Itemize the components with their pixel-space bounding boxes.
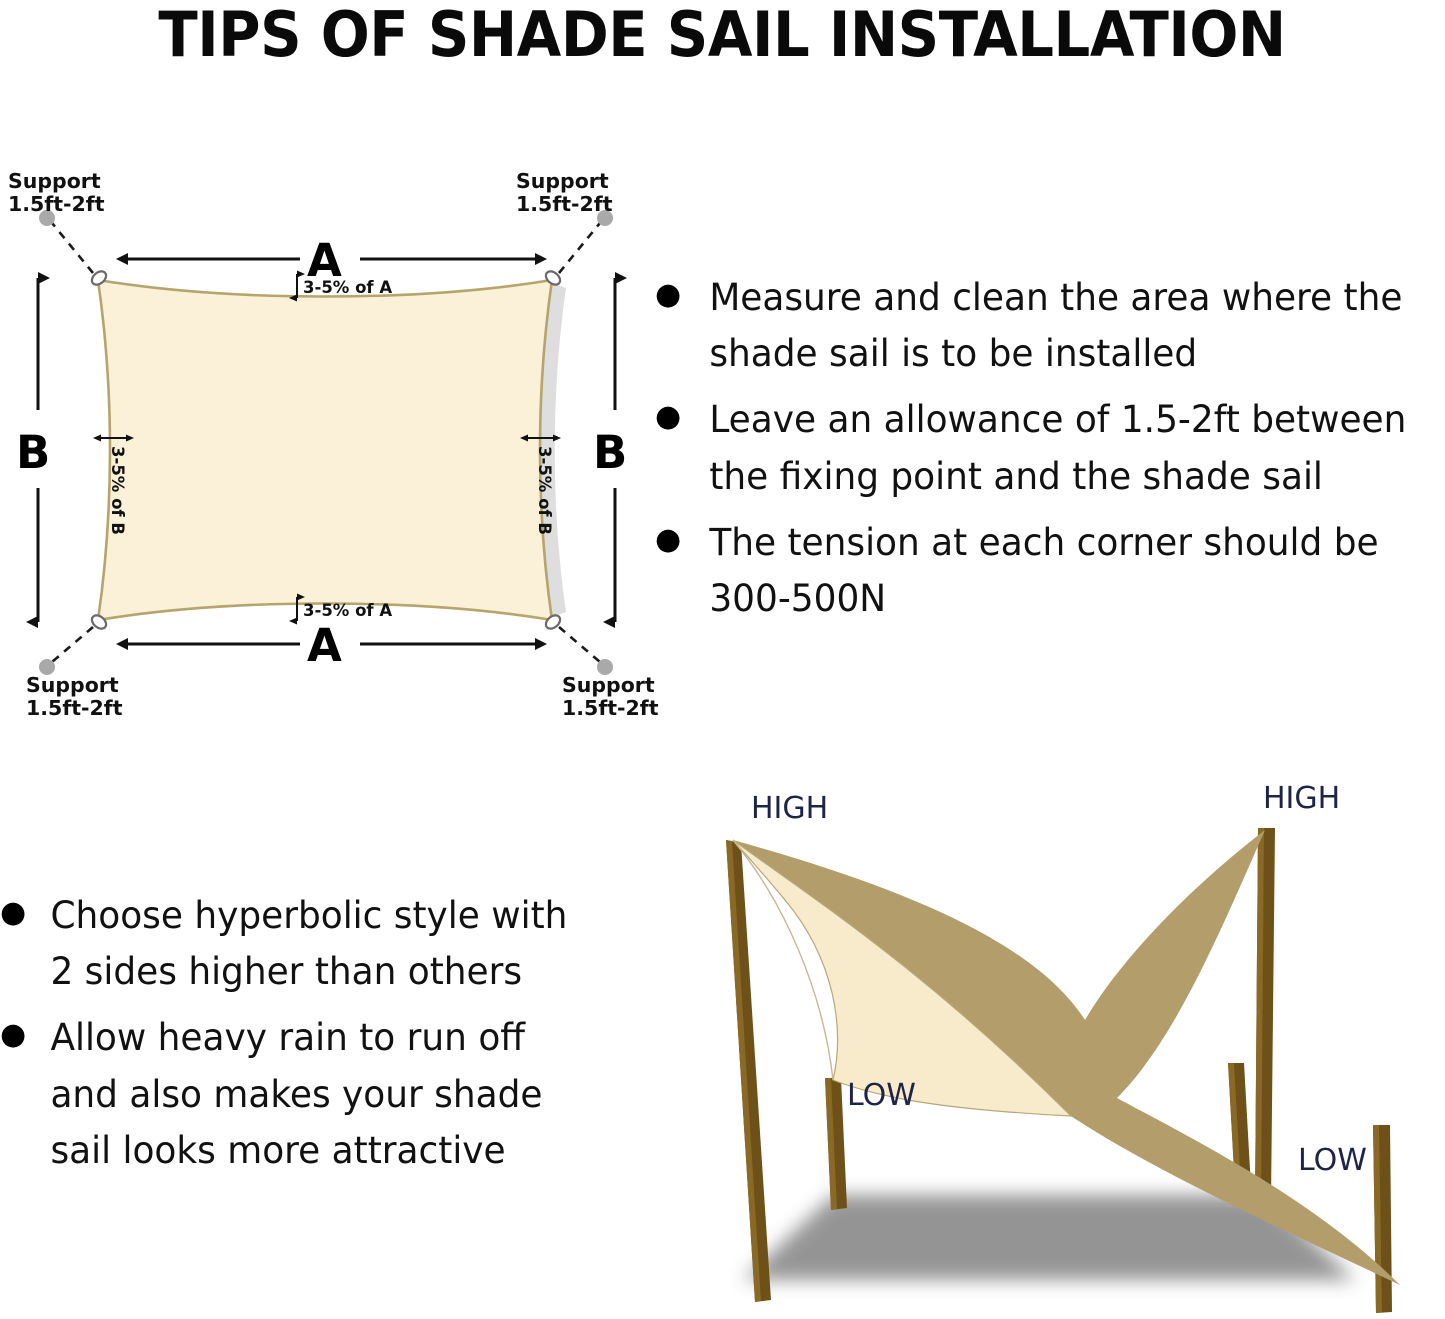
dim-label-right-B: B xyxy=(593,426,627,479)
post-high-left xyxy=(726,840,771,1302)
label-high-right: HIGH xyxy=(1263,781,1340,816)
post-low-left xyxy=(820,1078,847,1216)
dimension-left-B: B xyxy=(16,278,50,622)
support-label-top-left-line1: Support xyxy=(8,169,101,193)
hyperbolic-sail-diagram: HIGH HIGH LOW LOW xyxy=(655,780,1445,1319)
dim-label-bottom-A: A xyxy=(307,619,342,672)
dimension-right-B: B xyxy=(593,278,627,622)
list-item: ● Measure and clean the area where the s… xyxy=(655,270,1445,382)
label-low-left: LOW xyxy=(847,1078,916,1113)
support-label-bottom-left-line1: Support xyxy=(26,673,119,697)
list-item: ● Choose hyperbolic style with 2 sides h… xyxy=(0,888,640,1000)
label-high-left: HIGH xyxy=(751,791,828,826)
post-low-right xyxy=(1373,1125,1392,1313)
sag-label-bottom: 3-5% of A xyxy=(303,601,392,620)
support-label-bottom-left-line2: 1.5ft-2ft xyxy=(26,696,123,720)
list-item: ● Allow heavy rain to run off and also m… xyxy=(0,1010,640,1179)
sag-label-top: 3-5% of A xyxy=(303,278,392,297)
dim-label-left-B: B xyxy=(16,426,50,479)
rectangular-sail-diagram: Support 1.5ft-2ft Support 1.5ft-2ft Supp… xyxy=(0,150,660,730)
installation-tips-list: ● Measure and clean the area where the s… xyxy=(655,270,1445,637)
list-item: ● Leave an allowance of 1.5-2ft between … xyxy=(655,392,1445,504)
support-label-bottom-right-line1: Support xyxy=(562,673,655,697)
style-tips-list: ● Choose hyperbolic style with 2 sides h… xyxy=(0,888,640,1189)
sag-label-right: 3-5% of B xyxy=(535,446,554,535)
sag-label-left: 3-5% of B xyxy=(108,446,127,535)
list-item-label: Leave an allowance of 1.5-2ft between th… xyxy=(655,392,1421,504)
leader-bottom-right xyxy=(559,627,600,662)
title-bar: TIPS OF SHADE SAIL INSTALLATION xyxy=(0,0,1445,70)
leader-top-left xyxy=(52,223,93,273)
support-label-top-right-line2: 1.5ft-2ft xyxy=(516,192,613,216)
list-item-label: Measure and clean the area where the sha… xyxy=(655,270,1421,382)
list-item-label: The tension at each corner should be 300… xyxy=(655,515,1421,627)
list-item-label: Allow heavy rain to run off and also mak… xyxy=(0,1010,621,1179)
list-item: ● The tension at each corner should be 3… xyxy=(655,515,1445,627)
page-title: TIPS OF SHADE SAIL INSTALLATION xyxy=(159,4,1286,66)
sag-top: 3-5% of A xyxy=(297,274,392,298)
shade-sail-shape xyxy=(98,280,566,620)
leader-top-right xyxy=(559,223,600,273)
support-label-top-right-line1: Support xyxy=(516,169,609,193)
post-high-right xyxy=(1255,828,1275,1200)
sag-left: 3-5% of B xyxy=(101,438,127,535)
support-label-bottom-right-line2: 1.5ft-2ft xyxy=(562,696,659,720)
support-label-top-left-line2: 1.5ft-2ft xyxy=(8,192,105,216)
leader-bottom-left xyxy=(52,627,93,662)
dimension-bottom-A: A xyxy=(128,619,535,672)
sag-bottom: 3-5% of A xyxy=(297,597,392,621)
list-item-label: Choose hyperbolic style with 2 sides hig… xyxy=(0,888,621,1000)
label-low-right: LOW xyxy=(1298,1143,1367,1178)
sail-fill xyxy=(98,280,552,620)
